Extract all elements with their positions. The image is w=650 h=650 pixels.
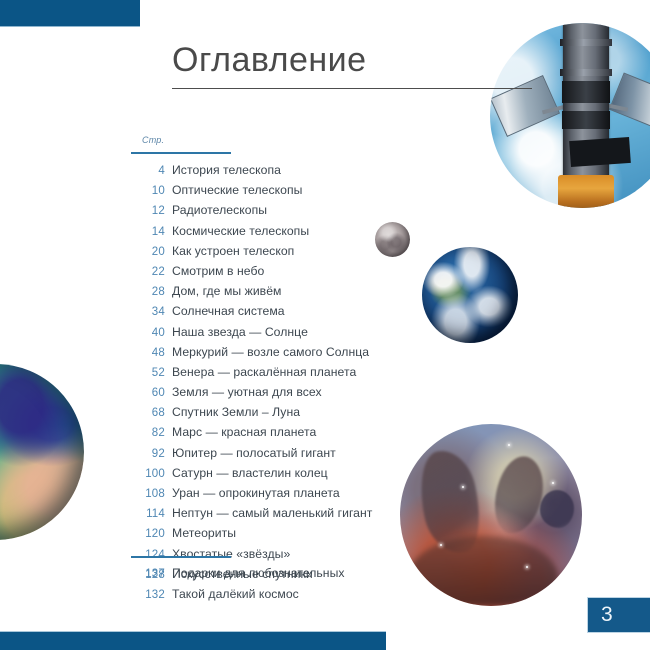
toc-row[interactable]: 108Уран — опрокинутая планета bbox=[131, 486, 431, 506]
toc-entry-label: Венера — раскалённая планета bbox=[172, 365, 356, 379]
toc-entry-label: История телескопа bbox=[172, 163, 281, 177]
table-of-contents-footer: 137Подарки для любознательных bbox=[131, 566, 431, 586]
hubble-segment-2 bbox=[562, 111, 610, 129]
toc-page-number: 22 bbox=[131, 266, 165, 278]
toc-row[interactable]: 114Нептун — самый маленький гигант bbox=[131, 506, 431, 526]
header-divider bbox=[131, 152, 231, 154]
footer-divider bbox=[131, 556, 231, 558]
top-accent-bar bbox=[0, 0, 140, 26]
toc-entry-label: Меркурий — возле самого Солнца bbox=[172, 345, 369, 359]
star-point bbox=[462, 486, 464, 488]
toc-entry-label: Радиотелескопы bbox=[172, 203, 267, 217]
star-point bbox=[552, 482, 554, 484]
toc-entry-label: Нептун — самый маленький гигант bbox=[172, 506, 372, 520]
toc-entry-label: Сатурн — властелин колец bbox=[172, 466, 328, 480]
toc-page-number: 60 bbox=[131, 387, 165, 399]
toc-row[interactable]: 28Дом, где мы живём bbox=[131, 284, 431, 304]
toc-page-number: 34 bbox=[131, 306, 165, 318]
toc-entry-label: Метеориты bbox=[172, 526, 236, 540]
toc-page-number: 124 bbox=[131, 549, 165, 561]
toc-entry-label: Такой далёкий космос bbox=[172, 587, 299, 601]
bottom-accent-bar bbox=[0, 632, 386, 650]
toc-page-number: 92 bbox=[131, 448, 165, 460]
toc-row[interactable]: 132Такой далёкий космос bbox=[131, 587, 431, 607]
page-number-badge: 3 bbox=[588, 598, 650, 632]
toc-page-number: 114 bbox=[131, 508, 165, 520]
toc-entry-label: Оптические телескопы bbox=[172, 183, 302, 197]
toc-row[interactable]: 68Спутник Земли – Луна bbox=[131, 405, 431, 425]
toc-page-number: 48 bbox=[131, 347, 165, 359]
toc-row[interactable]: 120Метеориты bbox=[131, 526, 431, 546]
toc-entry-label: Хвостатые «звёзды» bbox=[172, 547, 290, 561]
toc-page-number: 40 bbox=[131, 327, 165, 339]
toc-row[interactable]: 14Космические телескопы bbox=[131, 224, 431, 244]
toc-page-number: 28 bbox=[131, 286, 165, 298]
toc-row[interactable]: 10Оптические телескопы bbox=[131, 183, 431, 203]
toc-row[interactable]: 22Смотрим в небо bbox=[131, 264, 431, 284]
toc-page-number: 14 bbox=[131, 226, 165, 238]
page-title-wrap: Оглавление bbox=[172, 41, 592, 79]
toc-entry-label: Уран — опрокинутая планета bbox=[172, 486, 340, 500]
toc-row[interactable]: 4История телескопа bbox=[131, 163, 431, 183]
toc-entry-label: Спутник Земли – Луна bbox=[172, 405, 300, 419]
toc-entry-label: Солнечная система bbox=[172, 304, 285, 318]
toc-entry-label: Марс — красная планета bbox=[172, 425, 316, 439]
hubble-aperture-door bbox=[569, 137, 631, 167]
toc-entry-label: Земля — уютная для всех bbox=[172, 385, 322, 399]
toc-entry-label: Наша звезда — Солнце bbox=[172, 325, 308, 339]
toc-row[interactable]: 100Сатурн — властелин колец bbox=[131, 466, 431, 486]
toc-page-number: 4 bbox=[131, 165, 165, 177]
page-title: Оглавление bbox=[172, 41, 592, 79]
star-point bbox=[526, 566, 528, 568]
toc-page-number: 52 bbox=[131, 367, 165, 379]
toc-entry-label: Юпитер — полосатый гигант bbox=[172, 446, 336, 460]
toc-entry-label: Смотрим в небо bbox=[172, 264, 264, 278]
toc-page-number: 20 bbox=[131, 246, 165, 258]
toc-row[interactable]: 92Юпитер — полосатый гигант bbox=[131, 446, 431, 466]
toc-row[interactable]: 20Как устроен телескоп bbox=[131, 244, 431, 264]
toc-page-number: 12 bbox=[131, 205, 165, 217]
book-page: Оглавление Стр. 4История телескопа10Опти… bbox=[0, 0, 650, 650]
toc-entry-label: Дом, где мы живём bbox=[172, 284, 281, 298]
hubble-gold-insulation bbox=[558, 175, 614, 208]
venus-photo bbox=[0, 364, 84, 540]
nebula-pillar-center bbox=[491, 453, 547, 537]
toc-entry-label: Подарки для любознательных bbox=[172, 566, 345, 580]
page-number: 3 bbox=[601, 603, 613, 627]
toc-page-number: 108 bbox=[131, 488, 165, 500]
hubble-solar-panel-left bbox=[490, 75, 560, 137]
star-point bbox=[440, 544, 442, 546]
earth-photo bbox=[422, 247, 518, 343]
hubble-segment-1 bbox=[562, 81, 610, 103]
toc-row[interactable]: 40Наша звезда — Солнце bbox=[131, 325, 431, 345]
toc-row[interactable]: 60Земля — уютная для всех bbox=[131, 385, 431, 405]
toc-entry-label: Космические телескопы bbox=[172, 224, 309, 238]
star-point bbox=[508, 444, 510, 446]
hubble-solar-panel-right bbox=[609, 72, 650, 133]
toc-row[interactable]: 48Меркурий — возле самого Солнца bbox=[131, 345, 431, 365]
nebula-dark-globule bbox=[540, 490, 574, 528]
column-header-pages: Стр. bbox=[142, 135, 164, 145]
toc-entry-label: Как устроен телескоп bbox=[172, 244, 294, 258]
toc-page-number: 10 bbox=[131, 185, 165, 197]
toc-page-number: 120 bbox=[131, 528, 165, 540]
toc-page-number: 137 bbox=[131, 568, 165, 580]
toc-page-number: 100 bbox=[131, 468, 165, 480]
toc-row[interactable]: 12Радиотелескопы bbox=[131, 203, 431, 223]
table-of-contents: 4История телескопа10Оптические телескопы… bbox=[131, 163, 431, 607]
toc-row[interactable]: 52Венера — раскалённая планета bbox=[131, 365, 431, 385]
toc-page-number: 82 bbox=[131, 427, 165, 439]
toc-page-number: 68 bbox=[131, 407, 165, 419]
title-underline bbox=[172, 88, 532, 89]
toc-row[interactable]: 82Марс — красная планета bbox=[131, 425, 431, 445]
toc-page-number: 132 bbox=[131, 589, 165, 601]
toc-row[interactable]: 34Солнечная система bbox=[131, 304, 431, 324]
toc-footer-row[interactable]: 137Подарки для любознательных bbox=[131, 566, 431, 586]
